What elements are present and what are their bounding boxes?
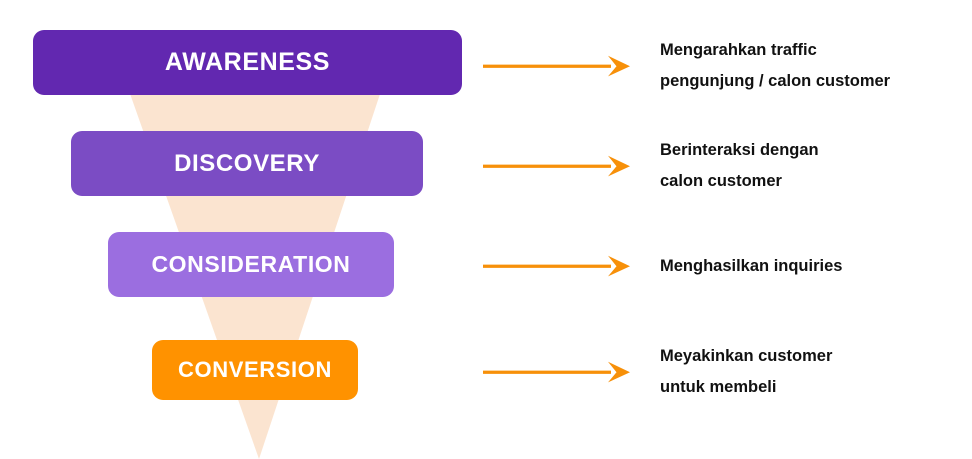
arrow-right-icon <box>483 155 630 177</box>
arrow-right-icon <box>483 255 630 277</box>
funnel-diagram: AWARENESS DISCOVERY CONSIDERATION CONVER… <box>0 0 972 459</box>
funnel-stage-consideration[interactable]: CONSIDERATION <box>108 232 394 297</box>
annotation-line: Meyakinkan customer <box>660 341 832 372</box>
funnel-stage-label: AWARENESS <box>165 50 330 75</box>
funnel-annotation-text: Menghasilkan inquiries <box>660 251 842 282</box>
funnel-stage-label: CONSIDERATION <box>151 253 350 276</box>
arrow-right-icon <box>483 55 630 77</box>
annotation-line: untuk membeli <box>660 372 832 403</box>
funnel-annotation-text: Berinteraksi dengan calon customer <box>660 135 819 197</box>
annotation-line: calon customer <box>660 166 819 197</box>
funnel-stage-awareness[interactable]: AWARENESS <box>33 30 462 95</box>
annotation-line: Berinteraksi dengan <box>660 135 819 166</box>
funnel-annotation-text: Meyakinkan customer untuk membeli <box>660 341 832 403</box>
funnel-stage-label: DISCOVERY <box>174 152 320 176</box>
funnel-stage-conversion[interactable]: CONVERSION <box>152 340 358 400</box>
annotation-line: pengunjung / calon customer <box>660 66 890 97</box>
annotation-line: Mengarahkan traffic <box>660 35 890 66</box>
funnel-stage-label: CONVERSION <box>178 359 332 381</box>
annotation-line: Menghasilkan inquiries <box>660 251 842 282</box>
funnel-annotation-text: Mengarahkan traffic pengunjung / calon c… <box>660 35 890 97</box>
funnel-stage-discovery[interactable]: DISCOVERY <box>71 131 423 196</box>
funnel-annotation-conversion: Meyakinkan customer untuk membeli <box>483 342 832 402</box>
funnel-annotation-awareness: Mengarahkan traffic pengunjung / calon c… <box>483 36 890 96</box>
funnel-annotation-discovery: Berinteraksi dengan calon customer <box>483 136 819 196</box>
funnel-annotation-consideration: Menghasilkan inquiries <box>483 240 842 292</box>
arrow-right-icon <box>483 361 630 383</box>
